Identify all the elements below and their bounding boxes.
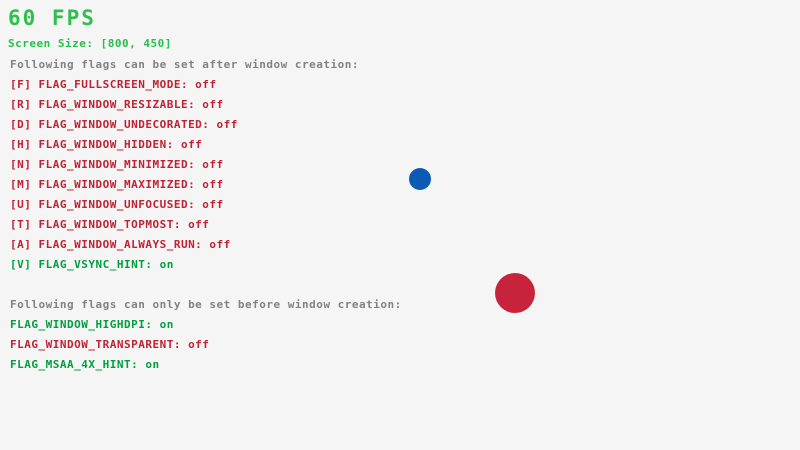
flag-line-flag-msaa-4x-hint[interactable]: FLAG_MSAA_4X_HINT: on (10, 358, 160, 371)
flag-line-flag-window-unfocused[interactable]: [U] FLAG_WINDOW_UNFOCUSED: off (10, 198, 224, 211)
flag-line-flag-window-maximized[interactable]: [M] FLAG_WINDOW_MAXIMIZED: off (10, 178, 224, 191)
flag-line-flag-window-undecorated[interactable]: [D] FLAG_WINDOW_UNDECORATED: off (10, 118, 238, 131)
flag-line-flag-vsync-hint[interactable]: [V] FLAG_VSYNC_HINT: on (10, 258, 174, 271)
flag-line-flag-window-always-run[interactable]: [A] FLAG_WINDOW_ALWAYS_RUN: off (10, 238, 231, 251)
blue-ball-shape (409, 168, 431, 190)
flag-line-flag-window-resizable[interactable]: [R] FLAG_WINDOW_RESIZABLE: off (10, 98, 224, 111)
raylib-window-canvas: 60 FPS Screen Size: [800, 450] Following… (0, 0, 800, 450)
flag-line-flag-window-transparent[interactable]: FLAG_WINDOW_TRANSPARENT: off (10, 338, 209, 351)
flag-line-flag-window-topmost[interactable]: [T] FLAG_WINDOW_TOPMOST: off (10, 218, 209, 231)
fps-counter: 60 FPS (8, 6, 96, 30)
screen-size-label: Screen Size: [800, 450] (8, 37, 172, 50)
flag-line-flag-window-highdpi[interactable]: FLAG_WINDOW_HIGHDPI: on (10, 318, 174, 331)
flag-line-flag-window-hidden[interactable]: [H] FLAG_WINDOW_HIDDEN: off (10, 138, 202, 151)
section-header-before-creation: Following flags can only be set before w… (10, 298, 402, 311)
flag-line-flag-fullscreen-mode[interactable]: [F] FLAG_FULLSCREEN_MODE: off (10, 78, 217, 91)
section-header-after-creation: Following flags can be set after window … (10, 58, 359, 71)
flag-line-flag-window-minimized[interactable]: [N] FLAG_WINDOW_MINIMIZED: off (10, 158, 224, 171)
red-ball-shape (495, 273, 535, 313)
